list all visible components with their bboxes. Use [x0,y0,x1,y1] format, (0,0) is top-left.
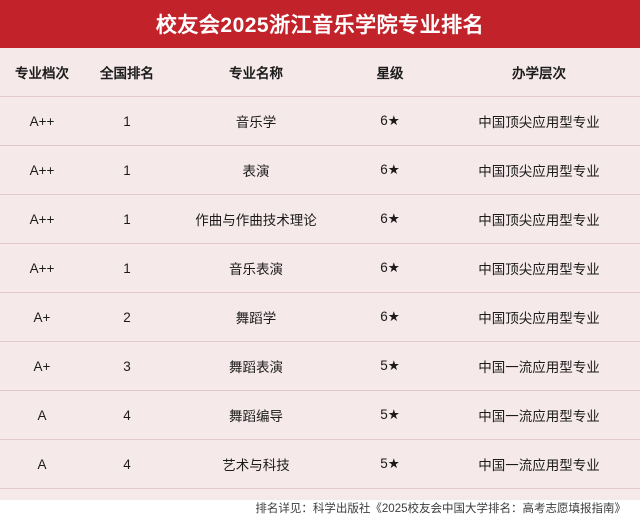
cell-star: 5★ [342,440,438,489]
cell-level: 中国一流应用型专业 [438,342,640,391]
cell-major-name: 舞蹈表演 [170,342,342,391]
table-row: A++ 1 音乐学 6★ 中国顶尖应用型专业 [0,97,640,146]
cell-national-rank: 4 [84,440,170,489]
cell-national-rank: 1 [84,244,170,293]
cell-star: 5★ [342,391,438,440]
major-ranking-table: 专业档次 全国排名 专业名称 星级 办学层次 A++ 1 音乐学 6★ 中国顶尖… [0,48,640,489]
table-row: A++ 1 表演 6★ 中国顶尖应用型专业 [0,146,640,195]
footer-note: 排名详见：科学出版社《2025校友会中国大学排名：高考志愿填报指南》 [255,500,626,516]
table-body: A++ 1 音乐学 6★ 中国顶尖应用型专业 A++ 1 表演 6★ 中国顶尖应… [0,97,640,489]
table-header: 专业档次 全国排名 专业名称 星级 办学层次 [0,48,640,97]
cell-national-rank: 1 [84,195,170,244]
cell-grade: A++ [0,195,84,244]
column-header-grade: 专业档次 [0,48,84,97]
cell-national-rank: 4 [84,391,170,440]
cell-level: 中国顶尖应用型专业 [438,244,640,293]
cell-level: 中国一流应用型专业 [438,440,640,489]
cell-national-rank: 3 [84,342,170,391]
cell-major-name: 音乐学 [170,97,342,146]
cell-level: 中国顶尖应用型专业 [438,97,640,146]
cell-national-rank: 1 [84,97,170,146]
cell-major-name: 舞蹈编导 [170,391,342,440]
table-row: A 4 舞蹈编导 5★ 中国一流应用型专业 [0,391,640,440]
cell-star: 6★ [342,244,438,293]
cell-grade: A [0,391,84,440]
ranking-page: 校友会2025浙江音乐学院专业排名 专业档次 全国排名 专业名称 星级 办学层次… [0,0,640,500]
column-header-level: 办学层次 [438,48,640,97]
cell-grade: A+ [0,293,84,342]
cell-star: 5★ [342,342,438,391]
table-row: A+ 2 舞蹈学 6★ 中国顶尖应用型专业 [0,293,640,342]
cell-grade: A [0,440,84,489]
cell-grade: A++ [0,97,84,146]
cell-major-name: 艺术与科技 [170,440,342,489]
column-header-star: 星级 [342,48,438,97]
column-header-major-name: 专业名称 [170,48,342,97]
footer: 排名详见：科学出版社《2025校友会中国大学排名：高考志愿填报指南》 [0,489,640,527]
cell-level: 中国顶尖应用型专业 [438,146,640,195]
cell-star: 6★ [342,97,438,146]
column-header-national-rank: 全国排名 [84,48,170,97]
cell-national-rank: 2 [84,293,170,342]
cell-star: 6★ [342,293,438,342]
table-header-row: 专业档次 全国排名 专业名称 星级 办学层次 [0,48,640,97]
cell-grade: A+ [0,342,84,391]
page-title-bar: 校友会2025浙江音乐学院专业排名 [0,0,640,48]
cell-major-name: 表演 [170,146,342,195]
cell-major-name: 舞蹈学 [170,293,342,342]
cell-level: 中国一流应用型专业 [438,391,640,440]
cell-star: 6★ [342,146,438,195]
page-title: 校友会2025浙江音乐学院专业排名 [156,9,484,39]
cell-star: 6★ [342,195,438,244]
cell-national-rank: 1 [84,146,170,195]
cell-major-name: 作曲与作曲技术理论 [170,195,342,244]
cell-level: 中国顶尖应用型专业 [438,293,640,342]
table-row: A 4 艺术与科技 5★ 中国一流应用型专业 [0,440,640,489]
cell-major-name: 音乐表演 [170,244,342,293]
cell-grade: A++ [0,146,84,195]
cell-grade: A++ [0,244,84,293]
cell-level: 中国顶尖应用型专业 [438,195,640,244]
table-row: A++ 1 作曲与作曲技术理论 6★ 中国顶尖应用型专业 [0,195,640,244]
table-row: A+ 3 舞蹈表演 5★ 中国一流应用型专业 [0,342,640,391]
table-row: A++ 1 音乐表演 6★ 中国顶尖应用型专业 [0,244,640,293]
